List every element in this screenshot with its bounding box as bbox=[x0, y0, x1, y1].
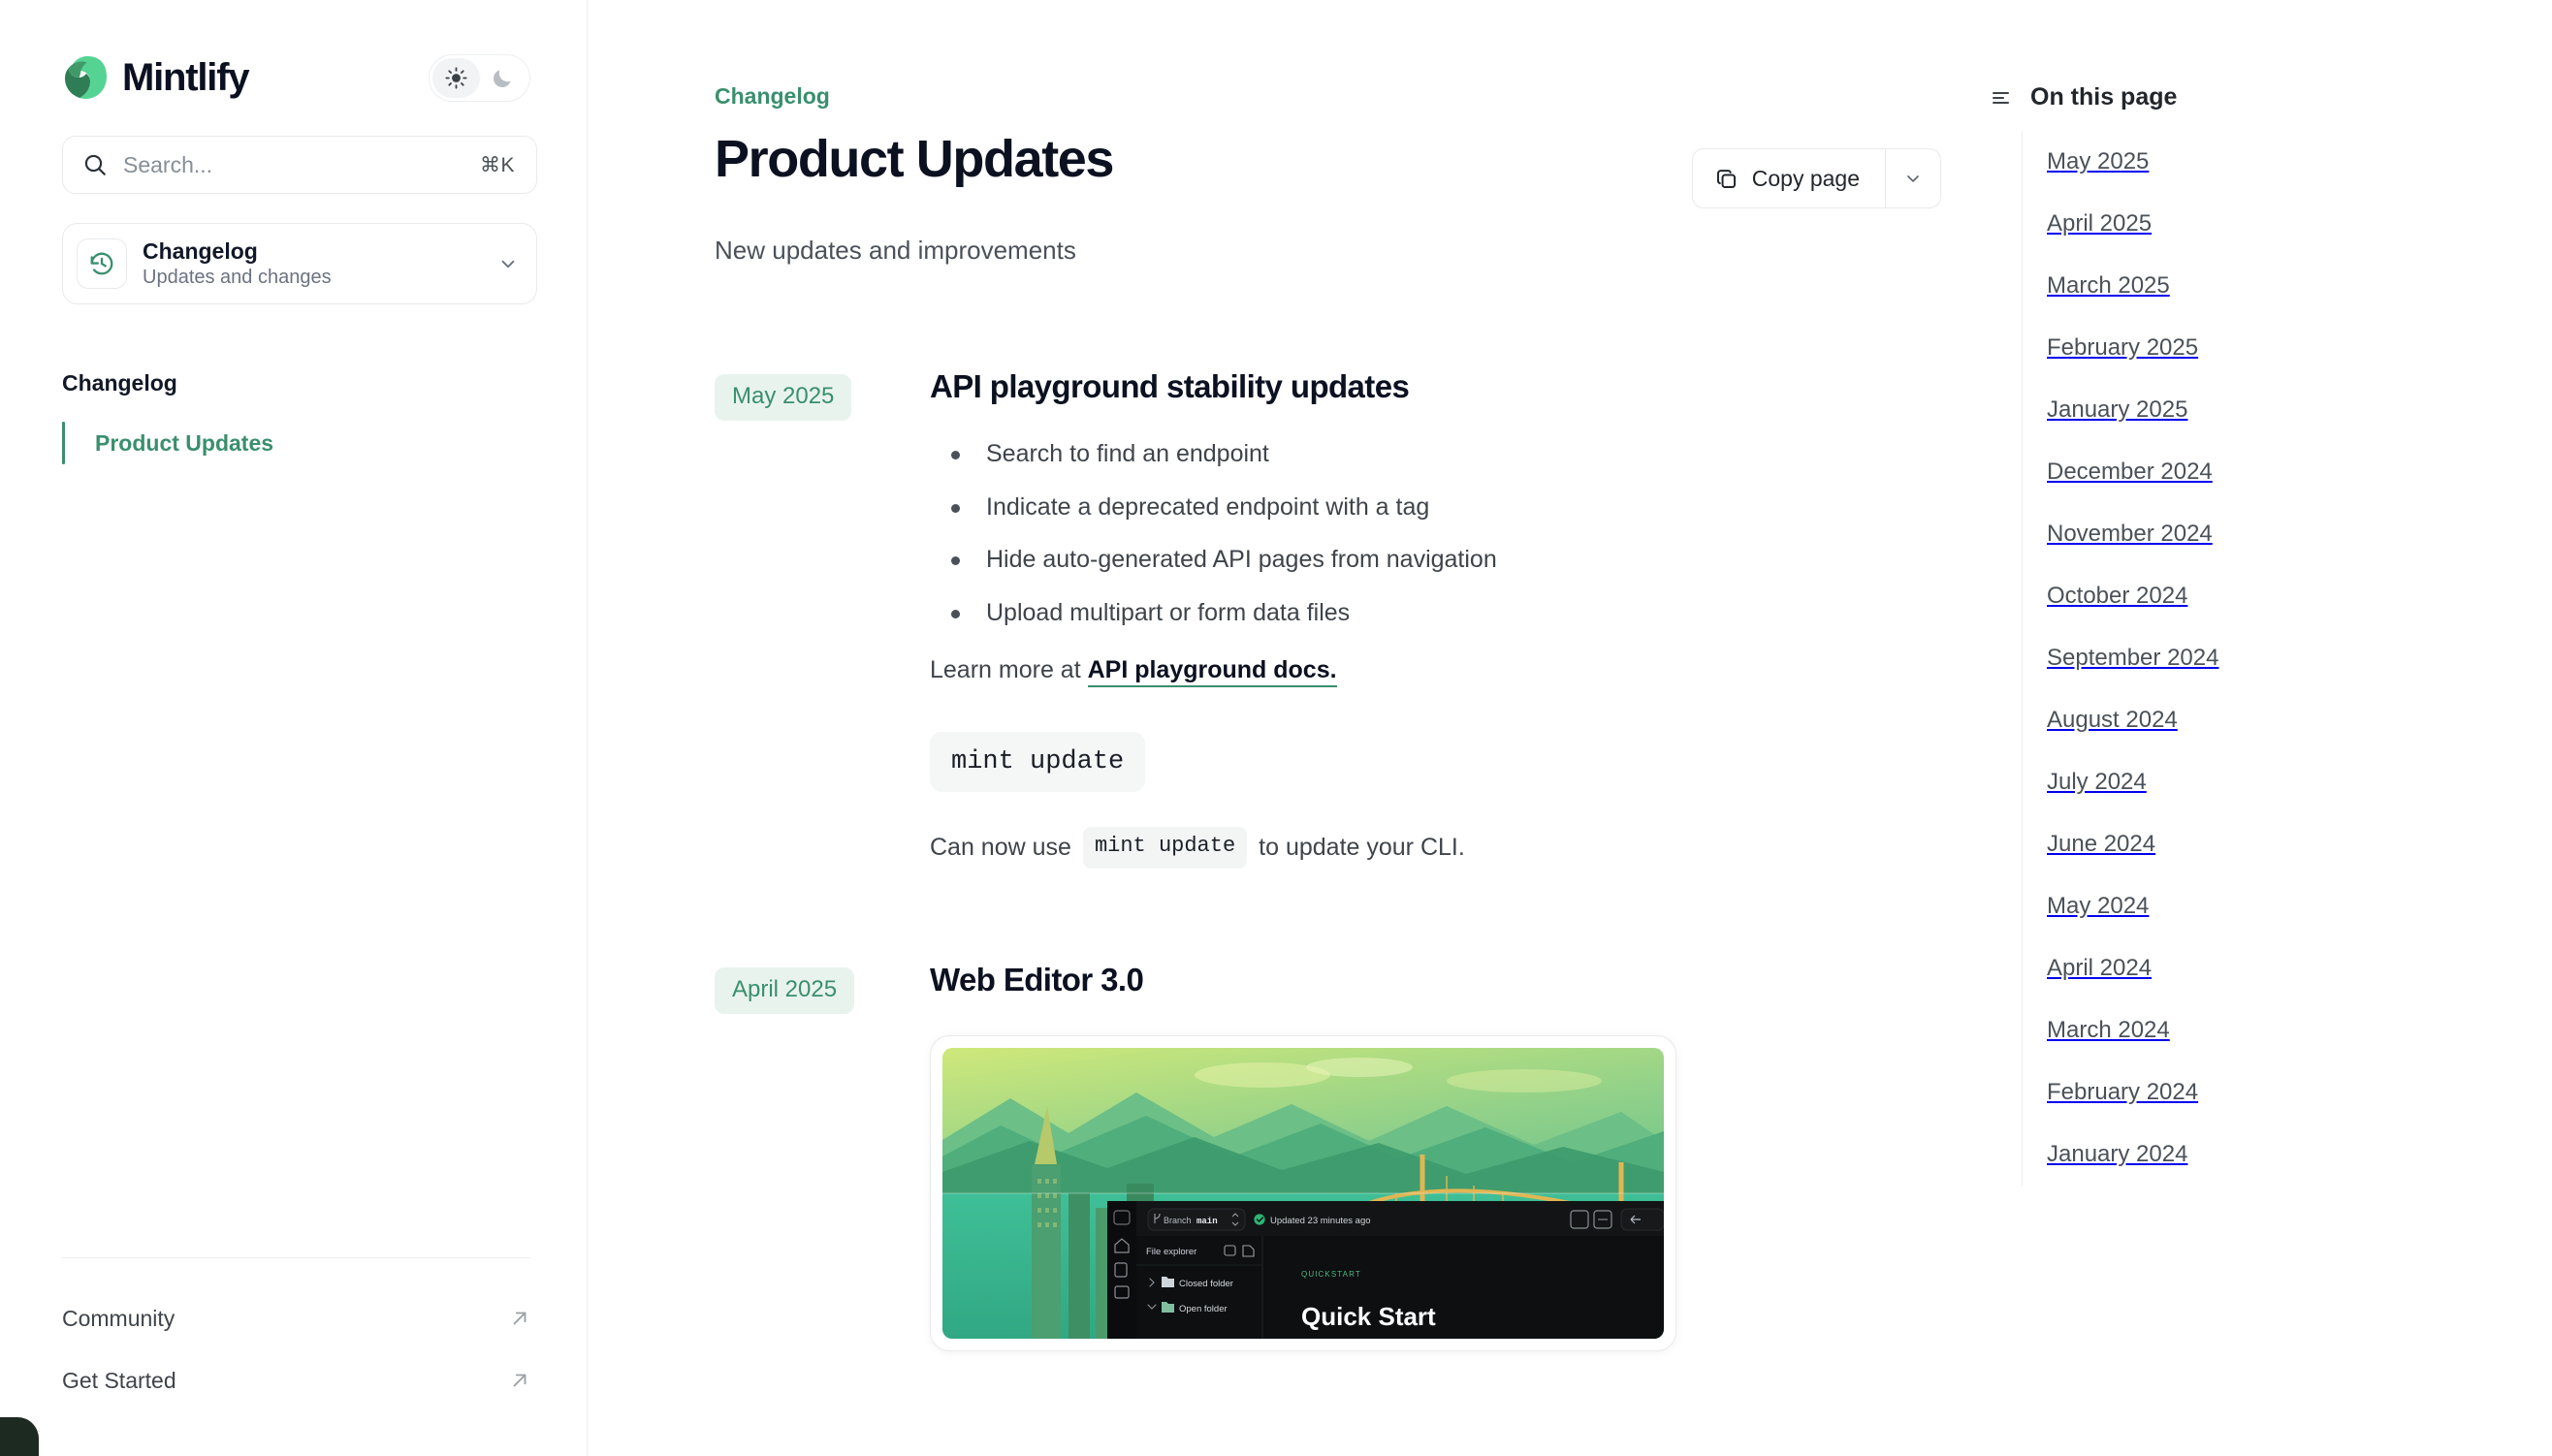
toc-item-label: May 2024 bbox=[2047, 893, 2149, 920]
toc-item-april-2024[interactable]: April 2024 bbox=[2023, 937, 2552, 999]
toc-item-february-2024[interactable]: February 2024 bbox=[2023, 1061, 2552, 1124]
toc-item-may-2024[interactable]: May 2024 bbox=[2023, 875, 2552, 937]
on-this-page-panel: On this page May 2025 April 2025 March 2… bbox=[1970, 0, 2552, 1456]
toc-item-december-2024[interactable]: December 2024 bbox=[2023, 441, 2552, 503]
toc-item-label: February 2025 bbox=[2047, 334, 2198, 362]
sidebar-link-get-started[interactable]: Get Started bbox=[62, 1349, 530, 1411]
code-block: mint update bbox=[930, 732, 1145, 792]
toc-item-july-2024[interactable]: July 2024 bbox=[2023, 751, 2552, 813]
toc-item-label: October 2024 bbox=[2047, 583, 2187, 610]
svg-text:Updated 23 minutes ago: Updated 23 minutes ago bbox=[1270, 1216, 1371, 1226]
toc-item-label: April 2024 bbox=[2047, 955, 2152, 982]
cli-sentence-after: to update your CLI. bbox=[1259, 831, 1465, 865]
svg-text:Closed folder: Closed folder bbox=[1179, 1279, 1233, 1289]
web-editor-illustration: Branch main Updated 23 minutes ago bbox=[942, 1048, 1664, 1339]
context-selector-subtitle: Updates and changes bbox=[143, 267, 482, 289]
page-title: Product Updates bbox=[715, 131, 1113, 188]
toc-title: On this page bbox=[2030, 83, 2177, 111]
brand-name: Mintlify bbox=[122, 58, 248, 97]
entry-title: API playground stability updates bbox=[930, 368, 1941, 405]
toc-item-march-2024[interactable]: March 2024 bbox=[2023, 999, 2552, 1061]
sidebar-bottom: Community Get Started bbox=[0, 1257, 587, 1456]
search-placeholder: Search... bbox=[123, 152, 464, 178]
breadcrumb[interactable]: Changelog bbox=[715, 83, 1941, 110]
entry-date-column: May 2025 bbox=[715, 368, 930, 421]
toc-item-label: January 2025 bbox=[2047, 396, 2187, 424]
entry-date-badge: April 2025 bbox=[715, 967, 854, 1014]
list-icon bbox=[1990, 86, 2013, 110]
page-header-row: Product Updates Copy page bbox=[715, 131, 1941, 208]
moon-icon bbox=[492, 67, 514, 89]
list-item: Search to find an endpoint bbox=[930, 438, 1941, 470]
toc-item-label: April 2025 bbox=[2047, 210, 2152, 237]
changelog-entries: May 2025 API playground stability update… bbox=[715, 368, 1941, 1351]
brand-row: Mintlify bbox=[62, 50, 530, 105]
list-item: Upload multipart or form data files bbox=[930, 597, 1941, 629]
sidebar-item-label: Product Updates bbox=[95, 430, 273, 457]
sidebar-nav: Product Updates bbox=[62, 420, 530, 466]
entry-date-column: April 2025 bbox=[715, 962, 930, 1014]
external-link-arrow-icon bbox=[509, 1370, 530, 1391]
toc-item-label: August 2024 bbox=[2047, 707, 2178, 734]
copy-page-group: Copy page bbox=[1692, 148, 1941, 208]
web-editor-screenshot-frame: Branch main Updated 23 minutes ago bbox=[930, 1035, 1676, 1351]
list-item: Indicate a deprecated endpoint with a ta… bbox=[930, 491, 1941, 523]
sidebar-link-label: Community bbox=[62, 1306, 175, 1332]
theme-toggle[interactable] bbox=[429, 54, 530, 102]
list-item: Hide auto-generated API pages from navig… bbox=[930, 544, 1941, 576]
sidebar-link-community[interactable]: Community bbox=[62, 1287, 530, 1349]
svg-text:main: main bbox=[1196, 1217, 1218, 1226]
history-clock-icon-wrap bbox=[77, 238, 127, 289]
nav-group-title: Changelog bbox=[62, 370, 530, 396]
content-column: Changelog Product Updates Copy page bbox=[715, 0, 1941, 1351]
toc-item-march-2025[interactable]: March 2025 bbox=[2023, 255, 2552, 317]
entry-bullet-list: Search to find an endpoint Indicate a de… bbox=[930, 438, 1941, 628]
history-clock-icon bbox=[88, 250, 115, 277]
chevron-down-icon bbox=[497, 253, 519, 274]
toc-item-november-2024[interactable]: November 2024 bbox=[2023, 503, 2552, 565]
search-shortcut-hint: ⌘K bbox=[480, 153, 515, 177]
learn-more-prefix: Learn more at bbox=[930, 656, 1088, 683]
svg-text:Quick Start: Quick Start bbox=[1301, 1302, 1436, 1331]
cli-update-paragraph: Can now usemint updateto update your CLI… bbox=[930, 827, 1941, 869]
entry-date-badge: May 2025 bbox=[715, 374, 851, 421]
mintlify-leaf-logo-icon bbox=[62, 53, 109, 102]
toc-item-label: March 2025 bbox=[2047, 272, 2170, 300]
toc-item-label: March 2024 bbox=[2047, 1017, 2170, 1044]
context-selector-changelog[interactable]: Changelog Updates and changes bbox=[62, 223, 537, 304]
api-playground-docs-link[interactable]: API playground docs. bbox=[1088, 656, 1337, 687]
toc-item-label: January 2024 bbox=[2047, 1141, 2187, 1168]
toc-item-april-2025[interactable]: April 2025 bbox=[2023, 193, 2552, 255]
toc-item-february-2025[interactable]: February 2025 bbox=[2023, 317, 2552, 379]
context-selector-text: Changelog Updates and changes bbox=[143, 238, 482, 288]
copy-icon bbox=[1714, 167, 1739, 191]
entry-title: Web Editor 3.0 bbox=[930, 962, 1941, 998]
app-root: Mintlify bbox=[0, 0, 2552, 1456]
external-link-arrow-icon bbox=[509, 1308, 530, 1329]
toc-item-october-2024[interactable]: October 2024 bbox=[2023, 565, 2552, 627]
brand-logo-link[interactable]: Mintlify bbox=[62, 53, 248, 102]
learn-more-paragraph: Learn more at API playground docs. bbox=[930, 653, 1941, 687]
copy-page-button[interactable]: Copy page bbox=[1693, 149, 1885, 207]
toc-item-june-2024[interactable]: June 2024 bbox=[2023, 813, 2552, 875]
toc-item-label: July 2024 bbox=[2047, 769, 2147, 796]
copy-page-label: Copy page bbox=[1752, 166, 1860, 192]
toc-item-label: December 2024 bbox=[2047, 459, 2213, 486]
toc-item-august-2024[interactable]: August 2024 bbox=[2023, 689, 2552, 751]
copy-page-dropdown-button[interactable] bbox=[1886, 149, 1940, 207]
changelog-entry: April 2025 Web Editor 3.0 bbox=[715, 962, 1941, 1351]
sidebar-link-label: Get Started bbox=[62, 1368, 176, 1394]
toc-item-label: June 2024 bbox=[2047, 831, 2155, 858]
toc-list: May 2025 April 2025 March 2025 February … bbox=[2022, 131, 2552, 1186]
entry-body: API playground stability updates Search … bbox=[930, 368, 1941, 869]
cli-sentence-before: Can now use bbox=[930, 831, 1071, 865]
sidebar-top: Mintlify bbox=[0, 0, 587, 466]
page-subtitle: New updates and improvements bbox=[715, 236, 1941, 266]
toc-item-label: September 2024 bbox=[2047, 645, 2218, 672]
left-sidebar: Mintlify bbox=[0, 0, 588, 1456]
entry-body: Web Editor 3.0 bbox=[930, 962, 1941, 1351]
toc-item-january-2024[interactable]: January 2024 bbox=[2023, 1124, 2552, 1186]
context-selector-title: Changelog bbox=[143, 238, 482, 264]
toc-item-label: May 2025 bbox=[2047, 148, 2149, 175]
toc-item-label: November 2024 bbox=[2047, 521, 2213, 548]
toc-item-label: February 2024 bbox=[2047, 1079, 2198, 1106]
floating-assistant-widget[interactable] bbox=[0, 1417, 39, 1456]
changelog-entry: May 2025 API playground stability update… bbox=[715, 368, 1941, 869]
toc-item-september-2024[interactable]: September 2024 bbox=[2023, 627, 2552, 689]
toc-item-may-2025[interactable]: May 2025 bbox=[2023, 131, 2552, 193]
search-icon bbox=[82, 152, 108, 177]
toc-item-january-2025[interactable]: January 2025 bbox=[2023, 379, 2552, 441]
svg-text:Open folder: Open folder bbox=[1179, 1304, 1228, 1314]
chevron-down-icon bbox=[1903, 169, 1923, 188]
sun-icon bbox=[445, 67, 467, 89]
theme-dark-option[interactable] bbox=[480, 58, 527, 98]
search-input[interactable]: Search... ⌘K bbox=[62, 136, 537, 194]
sidebar-divider bbox=[62, 1257, 530, 1258]
svg-text:File explorer: File explorer bbox=[1146, 1247, 1196, 1257]
theme-light-option[interactable] bbox=[432, 58, 480, 98]
svg-text:QUICKSTART: QUICKSTART bbox=[1301, 1270, 1361, 1279]
sidebar-item-product-updates[interactable]: Product Updates bbox=[62, 420, 530, 466]
inline-code: mint update bbox=[1083, 827, 1247, 869]
main-content: Changelog Product Updates Copy page bbox=[588, 0, 2552, 1456]
web-editor-screenshot: Branch main Updated 23 minutes ago bbox=[942, 1048, 1664, 1339]
svg-text:Branch: Branch bbox=[1164, 1216, 1192, 1225]
toc-header: On this page bbox=[1970, 83, 2552, 111]
